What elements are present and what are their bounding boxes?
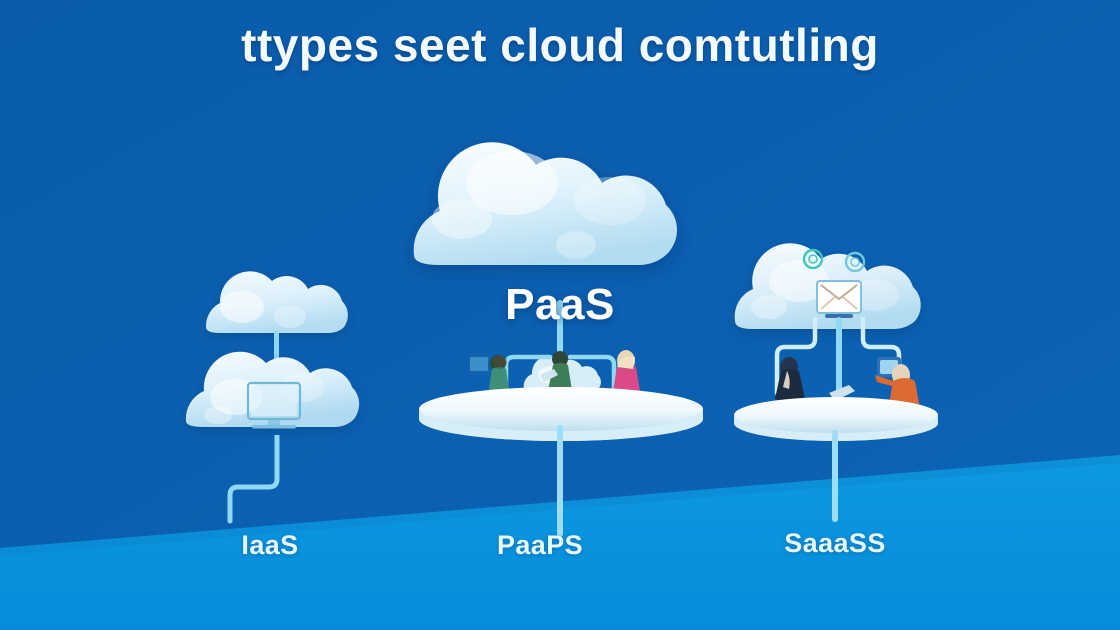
paas-group: PaaS	[400, 95, 720, 515]
iaas-cloud-upper	[206, 271, 348, 333]
iaas-connector-vertical-top	[274, 331, 279, 361]
page-title: ttypes seet cloud comtutling	[0, 18, 1120, 72]
tier-label-paas: PaaPS	[440, 530, 640, 561]
tier-label-saas: SaaaSS	[735, 528, 935, 559]
iaas-connector-elbow	[220, 435, 340, 545]
iaas-group	[170, 255, 400, 515]
tier-label-iaas: IaaS	[170, 530, 370, 561]
infographic-canvas: ttypes seet cloud comtutling	[0, 0, 1120, 630]
saas-connector-lower-stem	[815, 430, 855, 540]
saas-group	[725, 225, 945, 515]
paas-badge-label: PaaS	[400, 280, 720, 330]
mail-monitor-icon	[817, 281, 861, 318]
